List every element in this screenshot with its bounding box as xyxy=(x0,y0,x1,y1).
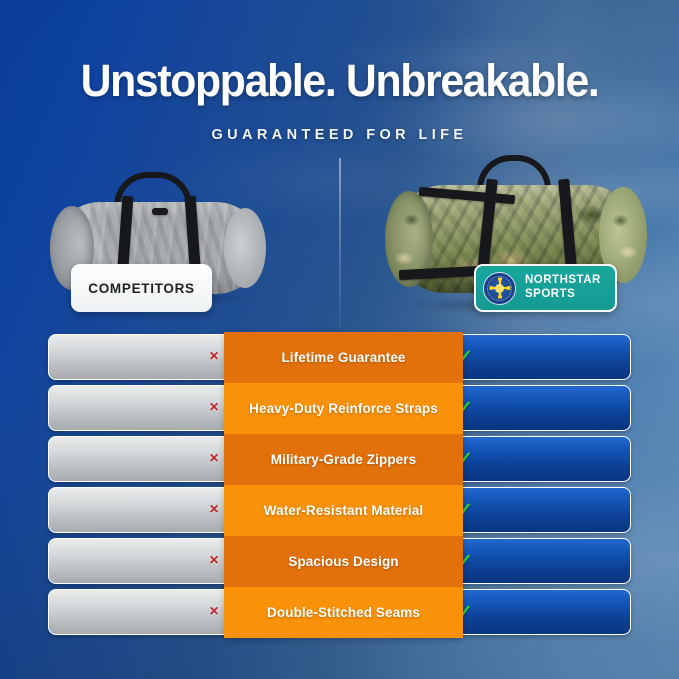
brand-name-line1: NORTHSTAR xyxy=(525,274,601,288)
brand-name-line2: SPORTS xyxy=(525,288,601,302)
feature-label-column: Lifetime Guarantee Heavy-Duty Reinforce … xyxy=(224,332,463,638)
northstar-brand-badge: NORTHSTAR SPORTS xyxy=(474,264,617,312)
feature-label: Military-Grade Zippers xyxy=(224,434,463,485)
feature-label: Double-Stitched Seams xyxy=(224,587,463,638)
feature-label: Spacious Design xyxy=(224,536,463,587)
cross-icon: × xyxy=(209,399,218,417)
page-title: Unstoppable. Unbreakable. xyxy=(17,57,662,104)
brand-name: NORTHSTAR SPORTS xyxy=(525,274,601,301)
feature-label: Lifetime Guarantee xyxy=(224,332,463,383)
comparison-infographic: Unstoppable. Unbreakable. GUARANTEED FOR… xyxy=(0,0,679,679)
feature-label: Water-Resistant Material xyxy=(224,485,463,536)
cross-icon: × xyxy=(209,603,218,621)
bag-zipper-pull xyxy=(152,208,168,215)
cross-icon: × xyxy=(209,552,218,570)
competitors-label: COMPETITORS xyxy=(71,264,212,312)
cross-icon: × xyxy=(209,501,218,519)
page-subtitle: GUARANTEED FOR LIFE xyxy=(0,127,679,143)
bag-end-right xyxy=(224,208,266,288)
cross-icon: × xyxy=(209,348,218,366)
starburst xyxy=(489,278,510,299)
compass-star-icon xyxy=(483,272,516,305)
center-divider xyxy=(339,158,341,328)
competitors-label-text: COMPETITORS xyxy=(88,281,194,296)
feature-label: Heavy-Duty Reinforce Straps xyxy=(224,383,463,434)
cross-icon: × xyxy=(209,450,218,468)
